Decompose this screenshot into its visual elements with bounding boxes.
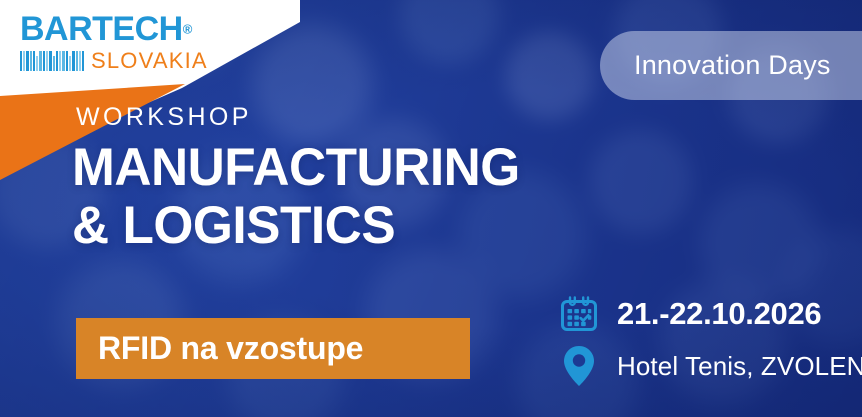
event-location-label: Hotel Tenis, ZVOLEN [617,351,862,382]
event-title-line-1: MANUFACTURING [72,142,520,194]
barcode-icon [20,51,84,71]
map-pin-icon [556,344,602,388]
innovation-days-label: Innovation Days [634,50,831,81]
bartech-logo: BARTECH® SLOVAKIA [20,12,210,72]
event-date-row: 21.-22.10.2026 [556,288,862,340]
logo-brand-name: BARTECH [20,12,183,46]
logo-wordmark: BARTECH® [20,12,210,46]
topic-highlight-box: RFID na vzostupe [76,318,470,379]
event-title: MANUFACTURING & LOGISTICS [72,142,520,252]
logo-country-label: SLOVAKIA [91,50,208,72]
topic-highlight-label: RFID na vzostupe [98,330,363,367]
event-location-row: Hotel Tenis, ZVOLEN [556,340,862,392]
event-promo-banner: BARTECH® SLOVAKIA Innovation Days WORKSH… [0,0,862,417]
innovation-days-badge: Innovation Days [600,31,862,100]
workshop-kicker: WORKSHOP [76,103,252,132]
calendar-icon [556,294,602,334]
event-title-line-2: & LOGISTICS [72,200,520,252]
logo-subrow: SLOVAKIA [20,50,210,72]
registered-trademark-icon: ® [183,22,193,37]
event-details: 21.-22.10.2026 Hotel Tenis, ZVOLEN [556,288,862,392]
event-date-label: 21.-22.10.2026 [617,296,821,332]
